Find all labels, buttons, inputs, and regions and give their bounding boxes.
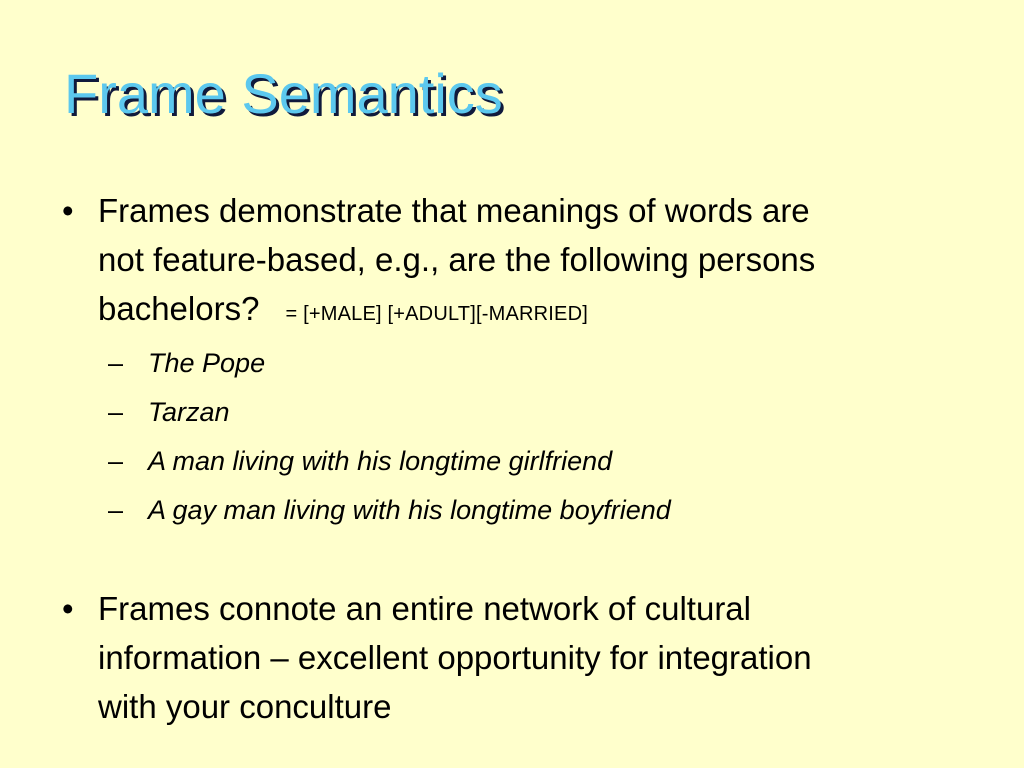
bullet-marker-icon: • (62, 186, 74, 235)
sub-bullet-label: The Pope (148, 348, 265, 378)
bullet-1-line-2: not feature-based, e.g., are the followi… (98, 235, 1024, 284)
sub-bullet-item-3: – A man living with his longtime girlfri… (0, 437, 1024, 486)
dash-marker-icon: – (108, 388, 123, 437)
bullet-2-line-3: with your conculture (98, 682, 1024, 731)
feature-notation: = [+MALE] [+ADULT][-MARRIED] (259, 303, 588, 325)
slide-canvas: Frame Semantics • Frames demonstrate tha… (0, 0, 1024, 768)
paragraph-spacer (0, 535, 1024, 584)
sub-bullet-item-4: – A gay man living with his longtime boy… (0, 486, 1024, 535)
dash-marker-icon: – (108, 339, 123, 388)
sub-bullet-label: Tarzan (148, 397, 230, 427)
sub-bullet-label: A gay man living with his longtime boyfr… (148, 495, 671, 525)
bullet-1-line-3: bachelors?= [+MALE] [+ADULT][-MARRIED] (98, 284, 1024, 339)
sub-bullet-list: – The Pope – Tarzan – A man living with … (0, 339, 1024, 535)
bullet-1-line-3-text: bachelors? (98, 290, 259, 327)
bullet-item-2: • Frames connote an entire network of cu… (0, 584, 1024, 731)
bullet-marker-icon: • (62, 584, 74, 633)
dash-marker-icon: – (108, 486, 123, 535)
bullet-1-text: Frames demonstrate that meanings of word… (98, 186, 1024, 339)
bullet-item-1: • Frames demonstrate that meanings of wo… (0, 186, 1024, 339)
bullet-1-line-1: Frames demonstrate that meanings of word… (98, 186, 1024, 235)
bullet-2-text: Frames connote an entire network of cult… (98, 584, 1024, 731)
page-title: Frame Semantics (64, 62, 503, 126)
dash-marker-icon: – (108, 437, 123, 486)
slide-body: • Frames demonstrate that meanings of wo… (0, 186, 1024, 731)
bullet-2-line-1: Frames connote an entire network of cult… (98, 584, 1024, 633)
sub-bullet-label: A man living with his longtime girlfrien… (148, 446, 612, 476)
sub-bullet-item-1: – The Pope (0, 339, 1024, 388)
bullet-2-line-2: information – excellent opportunity for … (98, 633, 1024, 682)
sub-bullet-item-2: – Tarzan (0, 388, 1024, 437)
